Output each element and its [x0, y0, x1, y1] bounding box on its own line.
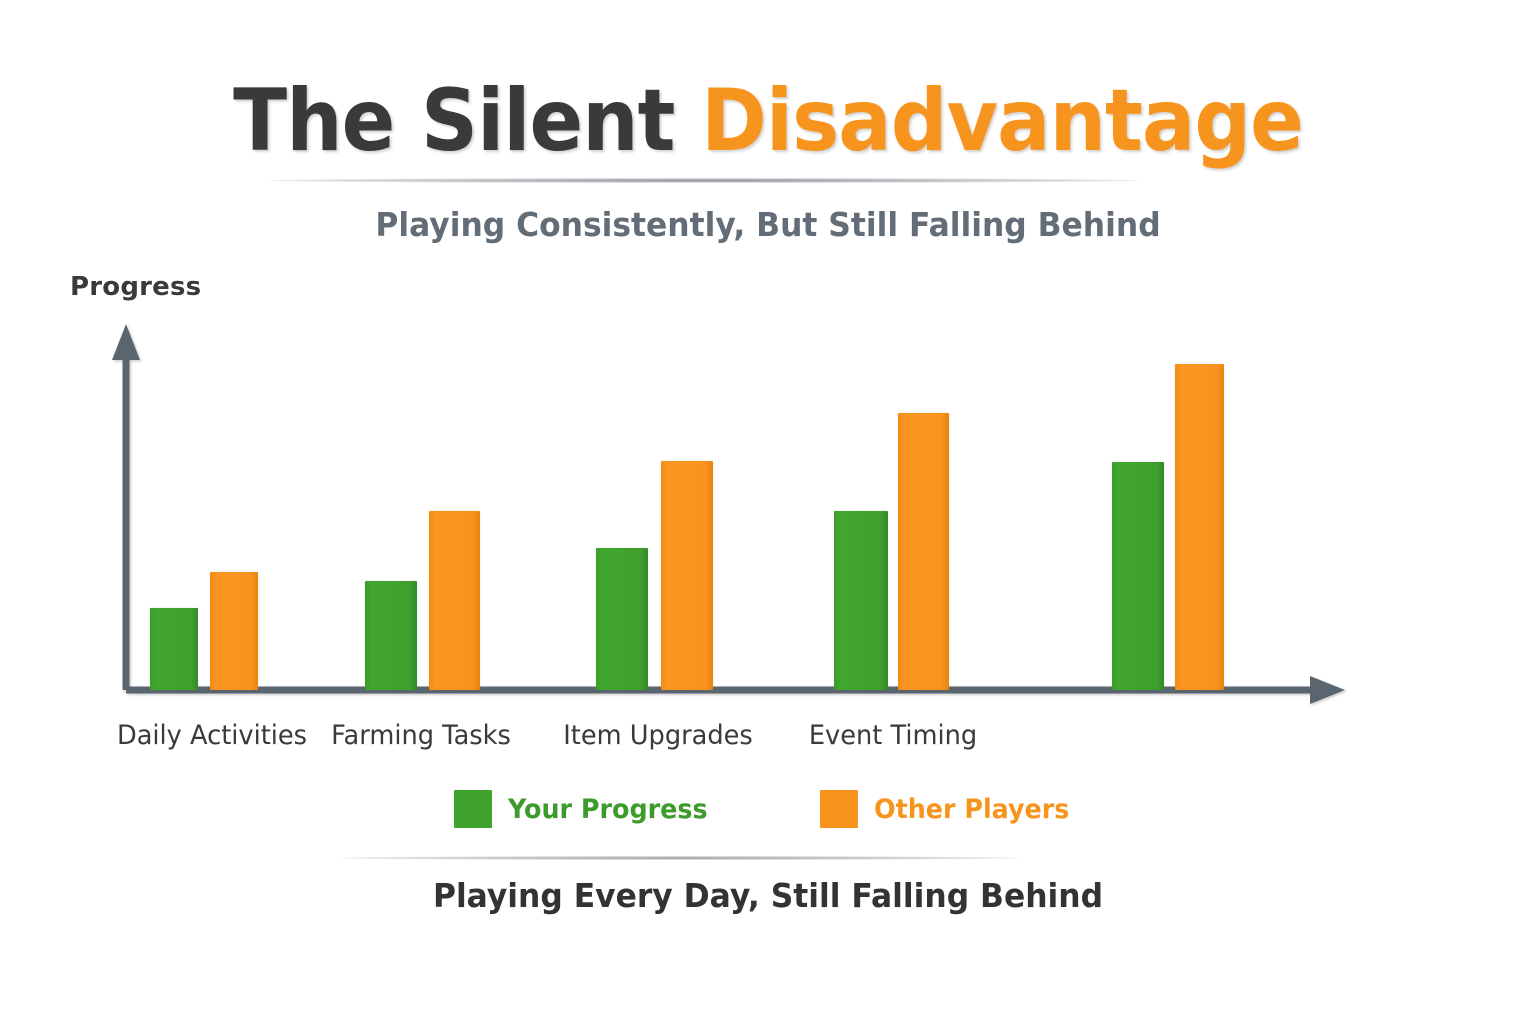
category-label-farming-tasks: Farming Tasks	[331, 720, 511, 751]
legend-label-other-players: Other Players	[874, 794, 1069, 825]
footer-caption: Playing Every Day, Still Falling Behind	[38, 876, 1497, 915]
footer-divider	[338, 856, 1020, 860]
title-text-primary: The Silent	[233, 71, 674, 171]
title-block: The Silent Disadvantage	[0, 78, 1536, 164]
title-divider	[268, 178, 1140, 183]
category-label-daily-activities: Daily Activities	[117, 720, 307, 751]
legend-item-other-players[interactable]: Other Players	[820, 790, 1082, 828]
bars-layer	[0, 364, 1536, 690]
category-label-item-upgrades: Item Upgrades	[563, 720, 753, 751]
bar-your-progress-group-5[interactable]	[1112, 462, 1164, 690]
legend-swatch-green-icon	[454, 790, 492, 828]
arrow-up-icon	[112, 324, 140, 360]
bar-other-players-event-timing[interactable]	[898, 413, 949, 690]
bar-other-players-item-upgrades[interactable]	[661, 461, 713, 690]
legend-item-your-progress[interactable]: Your Progress	[454, 790, 720, 828]
legend-label-your-progress: Your Progress	[508, 794, 708, 825]
bar-other-players-farming-tasks[interactable]	[429, 511, 480, 690]
legend-swatch-orange-icon	[820, 790, 858, 828]
bar-your-progress-event-timing[interactable]	[834, 511, 888, 690]
bar-other-players-group-5[interactable]	[1175, 364, 1224, 690]
bar-your-progress-item-upgrades[interactable]	[596, 548, 648, 690]
y-axis-label: Progress	[70, 272, 201, 302]
chart-legend: Your Progress Other Players	[0, 790, 1536, 828]
title-text-accent: Disadvantage	[675, 71, 1303, 171]
bar-your-progress-farming-tasks[interactable]	[365, 581, 417, 690]
category-label-event-timing: Event Timing	[809, 720, 977, 751]
x-axis-category-labels: Daily Activities Farming Tasks Item Upgr…	[0, 720, 1536, 760]
page-title: The Silent Disadvantage	[61, 78, 1474, 164]
bar-other-players-daily-activities[interactable]	[210, 572, 258, 690]
page-subtitle: Playing Consistently, But Still Falling …	[38, 205, 1497, 244]
bar-your-progress-daily-activities[interactable]	[150, 608, 198, 690]
